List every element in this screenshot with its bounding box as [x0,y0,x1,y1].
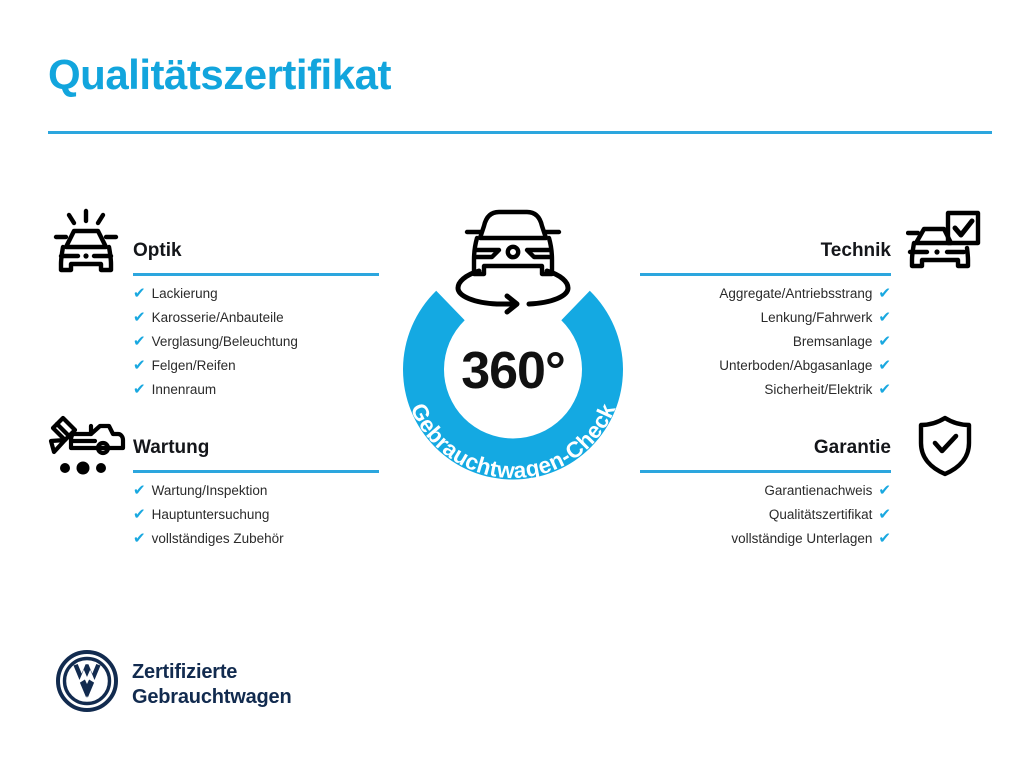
checklist-optik: ✔Lackierung✔Karosserie/Anbauteile✔Vergla… [133,282,379,402]
check-icon: ✔ [133,306,146,330]
checklist-item: ✔Hauptuntersuchung [133,503,379,527]
section-header-wartung: Wartung [133,435,379,479]
checklist-item: ✔Innenraum [133,378,379,402]
check-icon: ✔ [878,527,891,551]
shield-check-icon [916,414,974,483]
vw-logo-icon [55,649,119,713]
car-pencil-icon [45,414,127,485]
check-icon: ✔ [133,503,146,527]
section-underline [640,470,891,473]
checklist-item-label: Verglasung/Beleuchtung [152,330,298,354]
checklist-garantie: Garantienachweis✔Qualitätszertifikat✔vol… [640,479,891,551]
section-title-garantie: Garantie [640,435,891,461]
page-title: Qualitätszertifikat [48,52,391,98]
section-wartung: Wartung ✔Wartung/Inspektion✔Hauptuntersu… [133,435,379,551]
checklist-item: ✔vollständiges Zubehör [133,527,379,551]
checklist-item-label: Hauptuntersuchung [152,503,270,527]
car-rotation-icon [458,212,568,312]
checklist-item-label: Wartung/Inspektion [152,479,268,503]
checklist-item-label: Aggregate/Antriebsstrang [719,282,872,306]
check-icon: ✔ [878,354,891,378]
certificate-page: Qualitätszertifikat [0,0,1024,768]
checklist-item-label: Bremsanlage [793,330,873,354]
checklist-item-label: Karosserie/Anbauteile [152,306,284,330]
check-icon: ✔ [878,330,891,354]
checklist-item: Lenkung/Fahrwerk✔ [640,306,891,330]
section-title-wartung: Wartung [133,435,379,461]
checklist-item: vollständige Unterlagen✔ [640,527,891,551]
checklist-item-label: Sicherheit/Elektrik [764,378,872,402]
checklist-item: ✔Wartung/Inspektion [133,479,379,503]
brand-line-2: Gebrauchtwagen [132,685,291,710]
section-header-optik: Optik [133,238,379,282]
checklist-item: Unterboden/Abgasanlage✔ [640,354,891,378]
section-underline [133,470,379,473]
checklist-item: ✔Karosserie/Anbauteile [133,306,379,330]
check-icon: ✔ [133,479,146,503]
brand-text: Zertifizierte Gebrauchtwagen [132,660,291,710]
checklist-item: Sicherheit/Elektrik✔ [640,378,891,402]
section-title-optik: Optik [133,238,379,264]
section-underline [640,273,891,276]
checklist-item: Garantienachweis✔ [640,479,891,503]
section-header-technik: Technik [640,238,891,282]
badge-center-label: 360° [461,342,565,400]
checklist-item-label: Qualitätszertifikat [769,503,873,527]
check-icon: ✔ [878,503,891,527]
check-icon: ✔ [133,282,146,306]
check-icon: ✔ [878,479,891,503]
checklist-item: Aggregate/Antriebsstrang✔ [640,282,891,306]
check-icon: ✔ [878,378,891,402]
brand-line-1: Zertifizierte [132,660,291,685]
section-garantie: Garantie Garantienachweis✔Qualitätszerti… [640,435,891,551]
checklist-item-label: Lackierung [152,282,218,306]
checklist-item-label: Felgen/Reifen [152,354,236,378]
car-shine-icon [47,204,125,287]
header-divider [48,131,992,134]
checklist-item: Bremsanlage✔ [640,330,891,354]
checklist-item-label: Garantienachweis [764,479,872,503]
checklist-item: ✔Verglasung/Beleuchtung [133,330,379,354]
checklist-item-label: Innenraum [152,378,217,402]
check-icon: ✔ [133,378,146,402]
section-underline [133,273,379,276]
check-icon: ✔ [133,354,146,378]
section-technik: Technik Aggregate/Antriebsstrang✔Lenkung… [640,238,891,402]
checklist-item: ✔Felgen/Reifen [133,354,379,378]
checklist-item-label: vollständige Unterlagen [731,527,872,551]
check-icon: ✔ [878,306,891,330]
checklist-item: ✔Lackierung [133,282,379,306]
section-header-garantie: Garantie [640,435,891,479]
footer-brand: Zertifizierte Gebrauchtwagen [55,649,345,721]
checklist-item-label: Lenkung/Fahrwerk [761,306,873,330]
checklist-wartung: ✔Wartung/Inspektion✔Hauptuntersuchung✔vo… [133,479,379,551]
check-icon: ✔ [133,527,146,551]
check-icon: ✔ [133,330,146,354]
checklist-item-label: Unterboden/Abgasanlage [719,354,872,378]
car-checkbox-icon [906,209,982,286]
checklist-item-label: vollständiges Zubehör [152,527,284,551]
check-icon: ✔ [878,282,891,306]
checklist-item: Qualitätszertifikat✔ [640,503,891,527]
section-optik: Optik ✔Lackierung✔Karosserie/Anbauteile✔… [133,238,379,402]
section-title-technik: Technik [640,238,891,264]
checklist-technik: Aggregate/Antriebsstrang✔Lenkung/Fahrwer… [640,282,891,402]
360-check-badge: Gebrauchtwagen-Check 360° [379,192,647,492]
